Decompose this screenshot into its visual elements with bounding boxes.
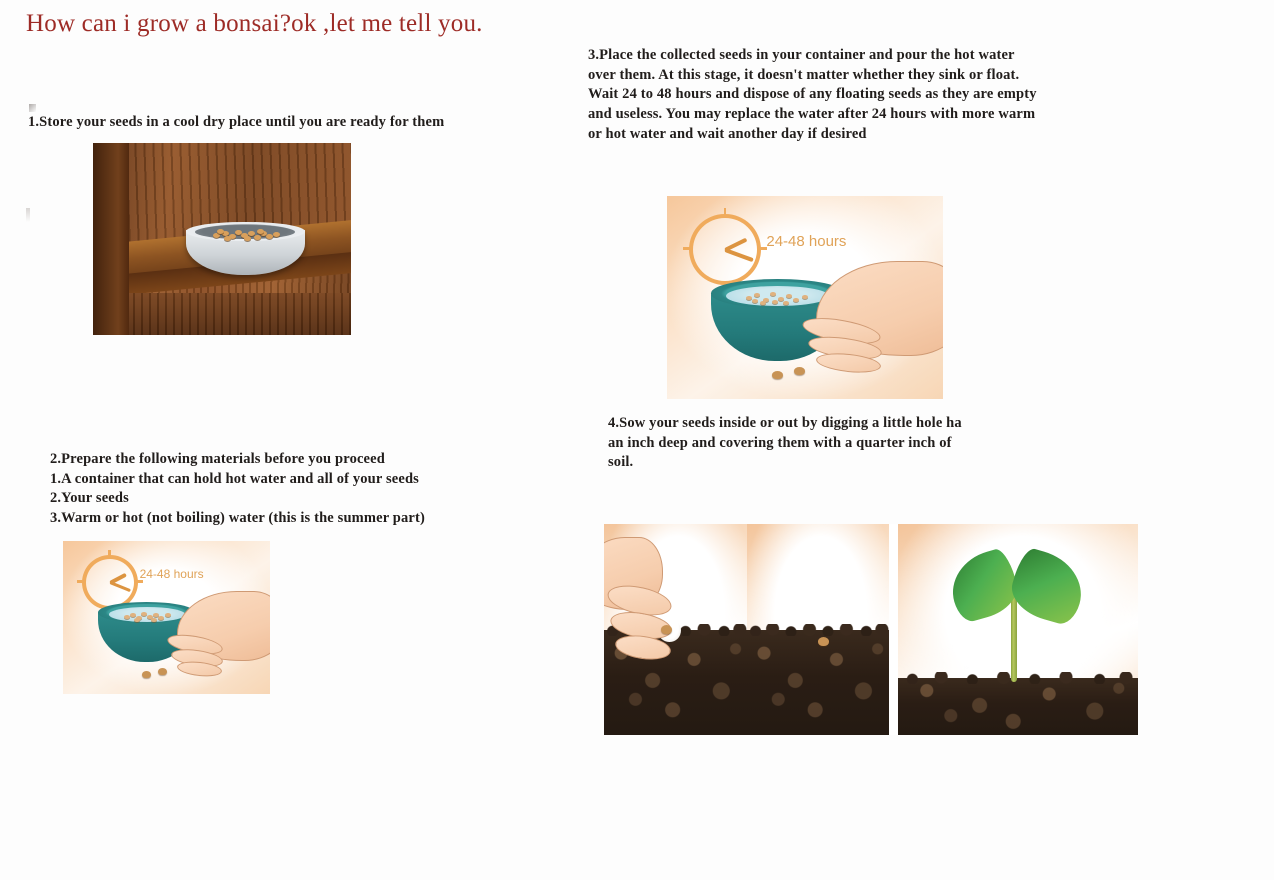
step-2-item-1: 1.A container that can hold hot water an…: [50, 470, 490, 490]
step-1-text: 1.Store your seeds in a cool dry place u…: [28, 113, 478, 133]
step-4-line-1: 4.Sow your seeds inside or out by diggin…: [608, 414, 1038, 434]
step-3-paragraph-1: 3.Place the collected seeds in your cont…: [588, 46, 1038, 85]
panel-divider: [889, 524, 898, 735]
soil-surface-texture: [898, 672, 1138, 684]
soil-layer: [898, 678, 1138, 735]
clock-tick-top: [108, 550, 110, 558]
wood-lower-section: [93, 293, 351, 335]
clock-tick-top: [724, 208, 727, 218]
step-2-item-3: 3.Warm or hot (not boiling) water (this …: [50, 509, 490, 529]
clock-duration-label: 24-48 hours: [140, 567, 204, 581]
step-4-line-3: soil.: [608, 453, 1038, 473]
panel-seedling-sprouting: [898, 524, 1138, 735]
scan-artifact-streak: [26, 208, 30, 222]
clock-tick-left: [683, 247, 693, 251]
step-4-line-2: an inch deep and covering them with a qu…: [608, 434, 1038, 454]
step-4-text: 4.Sow your seeds inside or out by diggin…: [608, 414, 1038, 473]
step-3-text: 3.Place the collected seeds in your cont…: [588, 46, 1038, 145]
soil-layer: [747, 630, 890, 736]
step-3-paragraph-2: Wait 24 to 48 hours and dispose of any f…: [588, 85, 1038, 144]
scan-artifact-mark: [29, 104, 36, 112]
document-page: How can i grow a bonsai?ok ,let me tell …: [0, 0, 1274, 880]
soaking-seeds-group: [743, 290, 815, 303]
wood-left-post: [93, 143, 129, 335]
clock-icon: [689, 214, 761, 285]
figure-seeds-soaking-large: 24-48 hours: [667, 196, 943, 399]
dry-seeds-group: [212, 228, 281, 240]
step-2-item-2: 2.Your seeds: [50, 489, 490, 509]
falling-seed-2: [158, 668, 167, 675]
page-title: How can i grow a bonsai?ok ,let me tell …: [26, 10, 483, 38]
falling-seed-1: [142, 671, 151, 678]
falling-seed-2: [794, 367, 805, 375]
panel-seed-resting-in-hole: [747, 524, 890, 735]
soaking-seeds-group: [122, 610, 175, 620]
white-bowl: [186, 222, 305, 282]
soil-surface-texture: [747, 624, 890, 636]
clock-duration-label: 24-48 hours: [766, 233, 846, 250]
figure-seeds-soaking-small: 24-48 hours: [63, 541, 270, 694]
step-2-heading: 2.Prepare the following materials before…: [50, 450, 490, 470]
seed-in-hole: [818, 637, 829, 646]
step-2-text: 2.Prepare the following materials before…: [50, 450, 490, 529]
panel-hand-dropping-seed-into-hole: [604, 524, 747, 735]
clock-tick-left: [77, 580, 85, 583]
seed-being-dropped: [661, 625, 672, 634]
falling-seed-1: [772, 371, 783, 379]
figure-sowing-sequence-strip: [604, 524, 1138, 735]
figure-bowl-of-seeds-on-wooden-shelf: [93, 143, 351, 335]
